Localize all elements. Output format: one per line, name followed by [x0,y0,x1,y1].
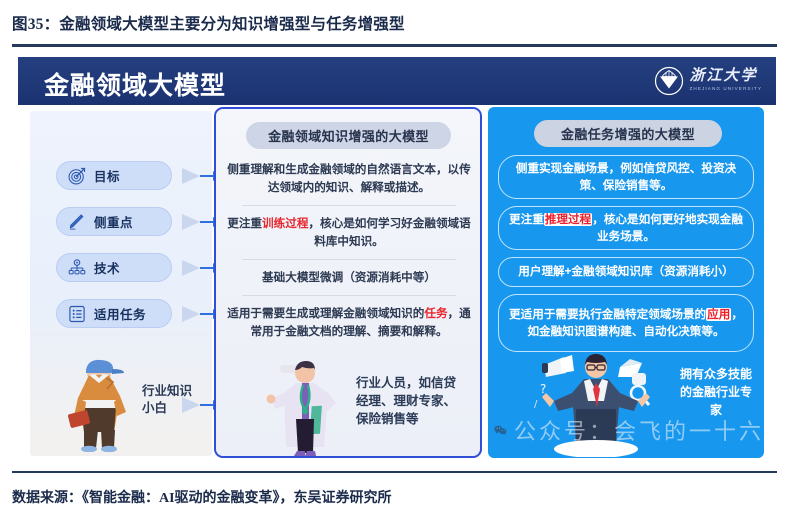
pencil-icon [67,212,87,232]
middle-row-3: 基础大模型微调（资源消耗中等） [226,269,472,287]
zju-name-cn: 浙江大学 [690,69,762,84]
left-item-focus-label: 侧重点 [94,212,133,231]
zhejiang-university-logo: 浙江大学 ZHEJIANG UNIVERSITY [654,64,762,98]
right-column-task-enhanced: 金融任务增强的大模型 侧重实现金融场景，例如信贷风控、投资决策、保险销售等。 更… [488,107,764,458]
middle-divider-3 [242,295,456,296]
figure-title: 金融领域大模型 [44,66,226,102]
right-column-heading: 金融任务增强的大模型 [534,120,722,147]
industry-professional-illustration [258,357,348,457]
middle-row-4-highlight: 任务 [424,307,447,320]
middle-row-4-pre: 适用于需要生成或理解金融领域知识的 [227,307,424,320]
middle-divider-2 [242,259,456,260]
middle-row-2-post: ，核心是如何学习好金融领域语料库中知识。 [308,217,470,248]
figure-header-bar: 金融领域大模型 浙江大学 ZHEJIANG UNIVERSITY [18,57,776,105]
left-item-focus: 侧重点 [56,207,172,236]
middle-row-1: 侧重理解和生成金融领域的自然语言文本，以传达领域内的知识、解释或描述。 [226,161,472,197]
left-item-technology: 技术 [56,253,172,282]
right-card-2-highlight: 推理过程 [544,213,592,226]
middle-row-3-text: 基础大模型微调（资源消耗中等） [262,271,436,284]
middle-column-heading: 金融领域知识增强的大模型 [246,122,451,149]
wechat-icon [494,414,507,446]
middle-divider-1 [242,205,456,206]
left-item-tasks-label: 适用任务 [94,304,146,323]
middle-row-2: 更注重训练过程，核心是如何学习好金融领域语料库中知识。 [226,215,472,251]
figure-panel: 金融领域大模型 浙江大学 ZHEJIANG UNIVERSITY [18,57,776,462]
middle-column-heading-label: 金融领域知识增强的大模型 [268,126,429,145]
left-column-caption: 行业知识小白 [142,383,198,417]
middle-row-2-highlight: 训练过程 [262,217,308,230]
zju-name-en: ZHEJIANG UNIVERSITY [690,86,762,93]
middle-row-2-pre: 更注重 [227,217,262,230]
right-card-4-pre: 更适用于需要执行金融特定领域场景的 [509,308,706,321]
right-card-3: 用户理解+金融领域知识库（资源消耗小） [498,257,754,287]
network-icon [67,258,87,278]
right-card-2-post: ，核心是如何更好地实现金融业务场景。 [592,213,743,243]
svg-text:/: / [534,399,538,410]
right-card-3-text: 用户理解+金融领域知识库（资源消耗小） [518,265,733,278]
middle-row-4: 适用于需要生成或理解金融领域知识的任务，通常用于金融文档的理解、摘要和解释。 [226,305,472,341]
right-card-4: 更适用于需要执行金融特定领域场景的应用，如金融知识图谱构建、自动化决策等。 [498,294,754,352]
right-column-caption: 拥有众多技能的金融行业专家 [680,365,752,419]
zju-emblem-icon [654,66,684,96]
right-card-2: 更注重推理过程，核心是如何更好地实现金融业务场景。 [498,206,754,250]
figure-body: 目标 侧重点 技术 [18,105,776,462]
right-card-1: 侧重实现金融场景，例如信贷风控、投资决策、保险销售等。 [498,155,754,199]
target-icon [67,166,87,186]
left-item-tasks: 适用任务 [56,299,172,328]
source-note: 数据来源：《智能金融：AI驱动的金融变革》，东吴证券研究所 [12,487,777,509]
left-item-goal: 目标 [56,161,172,190]
multiskilled-expert-illustration: ? / [516,349,676,457]
right-column-heading-label: 金融任务增强的大模型 [561,124,695,143]
middle-column-caption: 行业人员，如信贷经理、理财专家、保险销售等 [356,374,468,428]
right-card-2-pre: 更注重 [509,213,544,226]
left-column: 目标 侧重点 技术 [30,111,212,456]
novice-person-illustration [56,356,142,452]
left-item-goal-label: 目标 [94,166,120,185]
middle-row-1-text: 侧重理解和生成金融领域的自然语言文本，以传达领域内的知识、解释或描述。 [227,163,470,194]
right-card-4-highlight: 应用 [706,308,731,321]
right-card-1-text: 侧重实现金融场景，例如信贷风控、投资决策、保险销售等。 [516,162,736,192]
checklist-icon [67,304,87,324]
middle-column-knowledge-enhanced: 金融领域知识增强的大模型 侧重理解和生成金融领域的自然语言文本，以传达领域内的知… [214,107,482,458]
figure-caption: 图35：金融领域大模型主要分为知识增强型与任务增强型 [12,12,777,38]
left-item-technology-label: 技术 [94,258,120,277]
zju-wordmark: 浙江大学 ZHEJIANG UNIVERSITY [690,69,762,93]
top-rule [12,44,777,47]
bottom-rule [12,471,777,473]
